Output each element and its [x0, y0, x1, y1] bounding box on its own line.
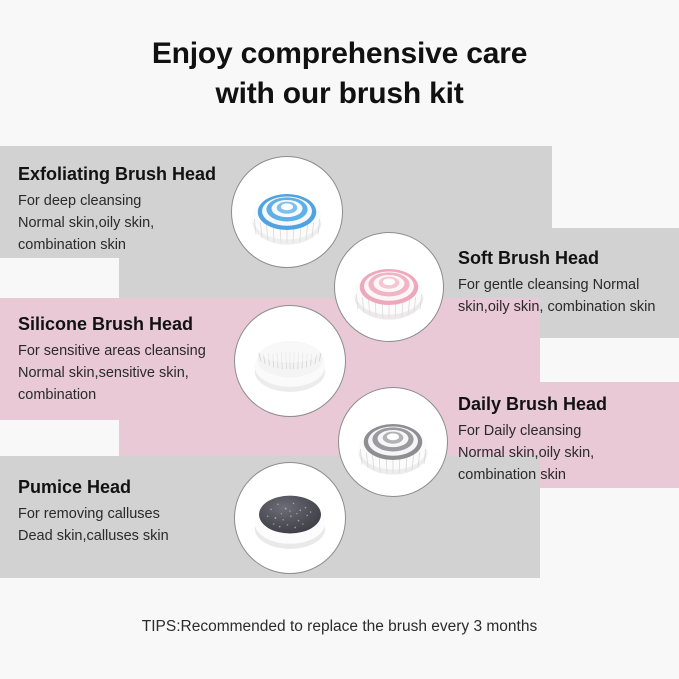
silicone-brush-head-image: [247, 318, 333, 404]
product-description: For sensitive areas cleansing Normal ski…: [18, 340, 206, 406]
product-description-line: Normal skin,sensitive skin,: [18, 362, 206, 384]
pumice-head-image: [247, 475, 333, 561]
product-title: Daily Brush Head: [458, 393, 607, 416]
product-description-line: For gentle cleansing Normal: [458, 274, 655, 296]
product-description-line: combination: [18, 384, 206, 406]
product-description-line: For deep cleansing: [18, 190, 216, 212]
product-title: Pumice Head: [18, 476, 169, 499]
product-description-line: Normal skin,oily skin,: [18, 212, 216, 234]
product-text-exfoliating-brush-head: Exfoliating Brush Head For deep cleansin…: [18, 163, 216, 256]
product-title: Exfoliating Brush Head: [18, 163, 216, 186]
product-text-silicone-brush-head: Silicone Brush Head For sensitive areas …: [18, 313, 206, 406]
soft-brush-head-image: [346, 244, 432, 330]
page-title-line-1: Enjoy comprehensive care: [0, 34, 679, 74]
product-description: For gentle cleansing Normal skin,oily sk…: [458, 274, 655, 318]
exfoliating-brush-head-circle: [231, 156, 343, 268]
product-description-line: For removing calluses: [18, 503, 169, 525]
product-description-line: For Daily cleansing: [458, 420, 607, 442]
product-infographic: Enjoy comprehensive care with our brush …: [0, 0, 679, 679]
product-description: For deep cleansing Normal skin,oily skin…: [18, 190, 216, 256]
product-description: For removing calluses Dead skin,calluses…: [18, 503, 169, 547]
product-description-line: skin,oily skin, combination skin: [458, 296, 655, 318]
product-description-line: combination skin: [18, 234, 216, 256]
product-text-pumice-head: Pumice Head For removing calluses Dead s…: [18, 476, 169, 547]
daily-brush-head-circle: [338, 387, 448, 497]
tips-note: TIPS:Recommended to replace the brush ev…: [0, 618, 679, 636]
page-title-line-2: with our brush kit: [0, 74, 679, 114]
page-title: Enjoy comprehensive care with our brush …: [0, 34, 679, 113]
product-text-soft-brush-head: Soft Brush Head For gentle cleansing Nor…: [458, 247, 655, 318]
product-description-line: Dead skin,calluses skin: [18, 525, 169, 547]
exfoliating-brush-head-image: [244, 169, 330, 255]
product-description: For Daily cleansing Normal skin,oily ski…: [458, 420, 607, 486]
product-description-line: For sensitive areas cleansing: [18, 340, 206, 362]
product-title: Soft Brush Head: [458, 247, 655, 270]
product-description-line: Normal skin,oily skin,: [458, 442, 607, 464]
soft-brush-head-circle: [334, 232, 444, 342]
silicone-brush-head-circle: [234, 305, 346, 417]
daily-brush-head-image: [350, 399, 436, 485]
product-description-line: combination skin: [458, 464, 607, 486]
product-text-daily-brush-head: Daily Brush Head For Daily cleansing Nor…: [458, 393, 607, 486]
product-title: Silicone Brush Head: [18, 313, 206, 336]
pumice-head-circle: [234, 462, 346, 574]
